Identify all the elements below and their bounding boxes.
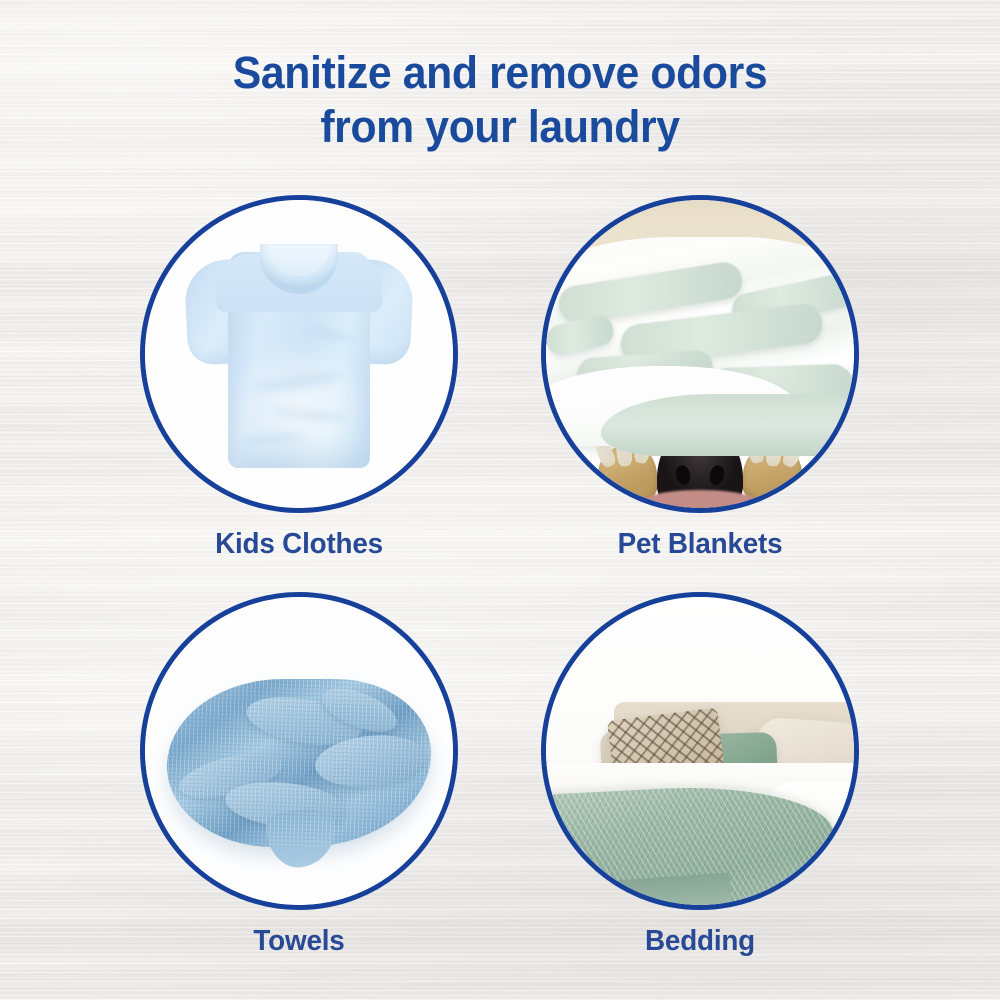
category-tile-kids-clothes[interactable]: Kids Clothes [140,195,458,561]
category-label-kids-clothes: Kids Clothes [146,527,451,561]
category-tile-pet-blankets[interactable]: Pet Blankets [541,195,859,561]
bed-icon [546,597,854,905]
dog-under-blanket-icon [546,200,854,508]
category-label-bedding: Bedding [547,924,852,958]
category-label-towels: Towels [146,924,451,958]
circle-frame-kids-clothes [140,195,458,513]
circle-frame-towels [140,592,458,910]
tshirt-icon [145,200,453,508]
circle-frame-bedding [541,592,859,910]
category-grid: Kids Clothes [0,0,1000,1000]
poster-canvas: Sanitize and remove odors from your laun… [0,0,1000,1000]
category-tile-towels[interactable]: Towels [140,592,458,958]
category-tile-bedding[interactable]: Bedding [541,592,859,958]
category-label-pet-blankets: Pet Blankets [547,527,852,561]
towel-icon [145,597,453,905]
circle-frame-pet-blankets [541,195,859,513]
